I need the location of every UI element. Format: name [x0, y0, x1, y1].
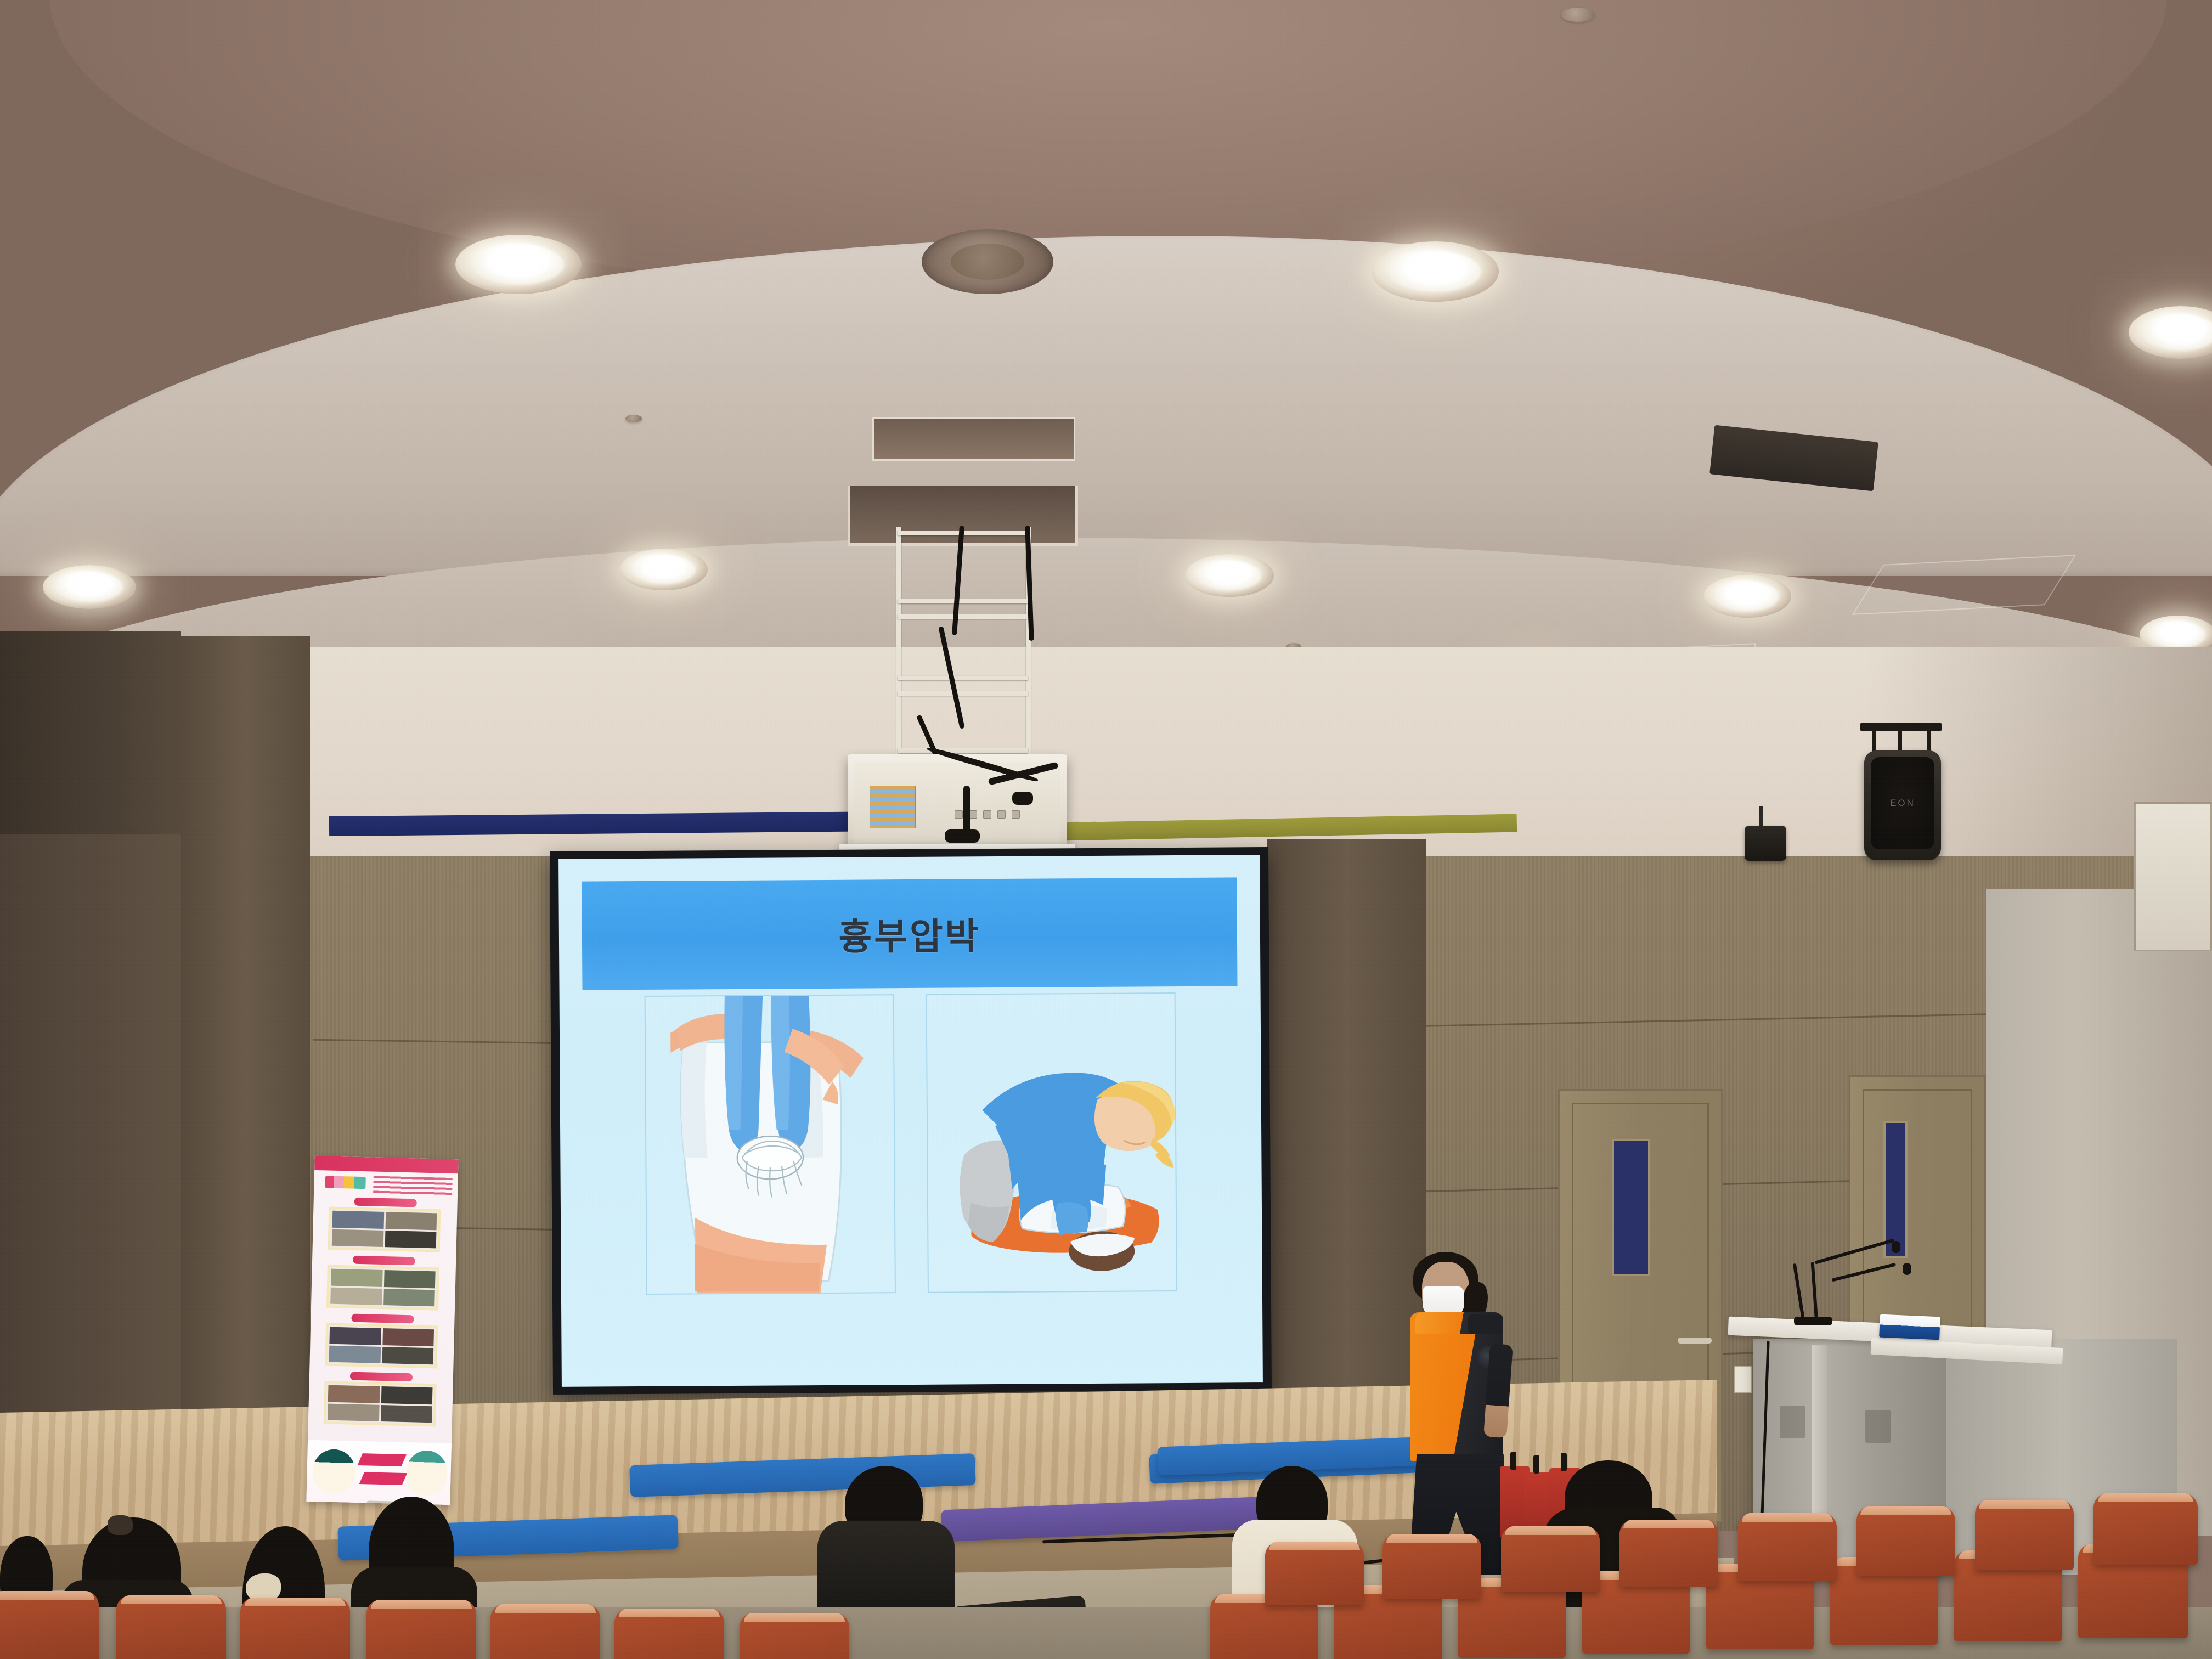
- slide-title-banner: 흉부압박: [582, 878, 1237, 990]
- auditorium-seat[interactable]: [740, 1613, 849, 1659]
- banner-photo: [330, 1287, 382, 1305]
- banner-mascot-right: [405, 1450, 448, 1496]
- projector-scissor-lift: [893, 527, 1036, 757]
- microphone-capsule: [1892, 1241, 1900, 1253]
- banner-photo: [381, 1386, 432, 1404]
- banner-photo-grid: [328, 1207, 441, 1252]
- auditorium-seat[interactable]: [0, 1591, 99, 1659]
- smoke-detector-icon: [625, 415, 642, 422]
- projector-port: [997, 810, 1006, 819]
- slide-image-row: [560, 992, 1263, 1323]
- projector-cable-block: [945, 830, 980, 843]
- projector-port: [955, 810, 963, 819]
- banner-photo: [385, 1212, 437, 1230]
- podium-vent-panel: [1780, 1406, 1805, 1438]
- banner-section-title: [353, 1256, 415, 1266]
- banner-section-title: [354, 1198, 417, 1207]
- podium-supply-box: [1879, 1314, 1940, 1340]
- projector-ceiling-recess: [872, 417, 1075, 461]
- projection-screen-surface: 흉부압박: [558, 855, 1263, 1387]
- projector-port: [983, 810, 991, 819]
- door-window: [1612, 1139, 1650, 1276]
- banner-photo: [329, 1345, 381, 1363]
- bag-handle: [1510, 1452, 1516, 1470]
- rollup-banner: [306, 1156, 458, 1505]
- wall-speaker: EON: [1864, 751, 1941, 860]
- ceiling-speaker: [922, 229, 1053, 294]
- banner-photo: [332, 1211, 384, 1229]
- banner-photo-grid: [325, 1323, 438, 1368]
- microphone-capsule: [1903, 1263, 1911, 1275]
- door-window: [1883, 1121, 1908, 1258]
- banner-photo: [382, 1347, 433, 1365]
- projector-port: [969, 810, 977, 819]
- banner-photo: [383, 1270, 435, 1288]
- banner-headline-text: [373, 1176, 453, 1197]
- slide-title: 흉부압박: [838, 907, 980, 961]
- downlight: [620, 549, 708, 590]
- auditorium-seat[interactable]: [1383, 1534, 1481, 1599]
- banner-photo: [332, 1229, 383, 1247]
- auditorium-seat[interactable]: [490, 1604, 600, 1659]
- auditorium-seat[interactable]: [1501, 1526, 1600, 1592]
- slide-panel-left: [645, 994, 896, 1295]
- banner-photo: [328, 1385, 380, 1403]
- banner-accent-stripe: [358, 1453, 407, 1466]
- bag-handle: [1533, 1455, 1539, 1474]
- auditorium-seat[interactable]: [1857, 1506, 1955, 1576]
- downlight: [43, 565, 136, 609]
- wall-alcove: [2134, 802, 2212, 951]
- banner-photo-grid: [324, 1381, 437, 1426]
- auditorium-seat[interactable]: [1975, 1500, 2074, 1570]
- chest-compression-overhead-illustration: [646, 995, 895, 1294]
- auditorium-seat[interactable]: [1620, 1520, 1718, 1587]
- projector-cable-drop: [963, 786, 970, 835]
- banner-photo-grid: [326, 1265, 439, 1311]
- banner-photo: [331, 1269, 382, 1287]
- wall-outlet: [1734, 1366, 1752, 1393]
- auditorium-seat[interactable]: [2093, 1493, 2198, 1565]
- small-wall-speaker: [1745, 826, 1786, 861]
- microphone-base: [1794, 1317, 1832, 1325]
- banner-photo: [380, 1404, 432, 1423]
- banner-photo: [383, 1289, 435, 1307]
- chest-compression-sideview-illustration: [927, 994, 1176, 1292]
- projector-cable-plug: [1012, 792, 1033, 805]
- downlight: [1703, 575, 1791, 618]
- auditorium-seat[interactable]: [614, 1609, 724, 1659]
- projector-port: [1012, 810, 1020, 819]
- banner-photo: [385, 1231, 436, 1249]
- projector-grille: [870, 786, 916, 828]
- auditorium-scene: EON 흉부압박: [0, 0, 2212, 1659]
- auditorium-seat[interactable]: [1738, 1513, 1837, 1581]
- projection-screen-frame: 흉부압박: [550, 847, 1272, 1395]
- slide-panel-right: [926, 992, 1177, 1293]
- banner-section-title: [351, 1314, 414, 1324]
- projector-port-row: [955, 806, 1059, 822]
- banner-footer: [306, 1440, 452, 1505]
- banner-photo: [329, 1327, 381, 1345]
- auditorium-seat[interactable]: [1265, 1542, 1364, 1605]
- banner-logo: [325, 1176, 366, 1189]
- banner-header-bar: [314, 1156, 459, 1173]
- podium-vent-panel: [1865, 1410, 1891, 1443]
- banner-accent-stripe: [359, 1472, 407, 1485]
- banner-mascot-left: [312, 1449, 356, 1494]
- auditorium-seat[interactable]: [116, 1595, 226, 1659]
- auditorium-seat[interactable]: [366, 1600, 476, 1659]
- banner-section-title: [350, 1372, 413, 1382]
- door-handle[interactable]: [1678, 1338, 1712, 1344]
- smoke-detector-icon: [1561, 8, 1595, 22]
- student-hairtie: [108, 1515, 133, 1535]
- instructor-shoulder-epaulette: [1468, 1314, 1503, 1334]
- bag-handle: [1561, 1453, 1567, 1471]
- banner-photo: [328, 1403, 379, 1421]
- banner-photo: [382, 1328, 434, 1346]
- downlight: [455, 235, 582, 294]
- downlight: [1185, 554, 1274, 597]
- auditorium-seat[interactable]: [240, 1598, 350, 1659]
- downlight: [1372, 241, 1499, 302]
- speaker-brand-label: EON: [1864, 798, 1941, 809]
